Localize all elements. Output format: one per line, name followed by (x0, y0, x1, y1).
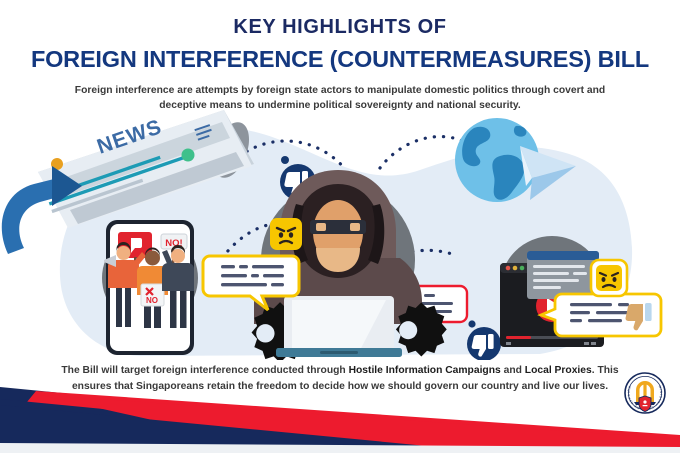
smartphone-protest-icon: NO! NO (104, 220, 194, 355)
protest-sign-2: NO (146, 296, 158, 305)
footer: The Bill will target foreign interferenc… (0, 355, 680, 453)
paper-plane-icon (520, 146, 576, 200)
footer-line2-a: and (501, 365, 525, 376)
page-title: FOREIGN INTERFERENCE (COUNTERMEASURES) B… (0, 47, 680, 73)
page-lede: Foreign interference are attempts by for… (60, 83, 620, 114)
page-kicker: KEY HIGHLIGHTS OF (0, 16, 680, 38)
footer-line1-a: The Bill will target foreign interferenc… (61, 365, 348, 376)
infographic-root: KEY HIGHLIGHTS OF FOREIGN INTERFERENCE (… (0, 0, 680, 453)
footer-highlight-hic: Hostile Information Campaigns (349, 365, 501, 376)
footer-highlight-proxies: Local Proxies (525, 365, 592, 376)
main-illustration: NEWS NO! (0, 108, 680, 360)
mha-logo: MINISTRY OF HOME AFFAIRS (622, 372, 668, 414)
newspaper-icon: NEWS (38, 110, 256, 228)
header: KEY HIGHLIGHTS OF FOREIGN INTERFERENCE (… (0, 0, 680, 114)
footer-text: The Bill will target foreign interferenc… (60, 363, 620, 395)
laptop-icon (276, 296, 402, 357)
angry-emoji-icon (270, 218, 302, 250)
